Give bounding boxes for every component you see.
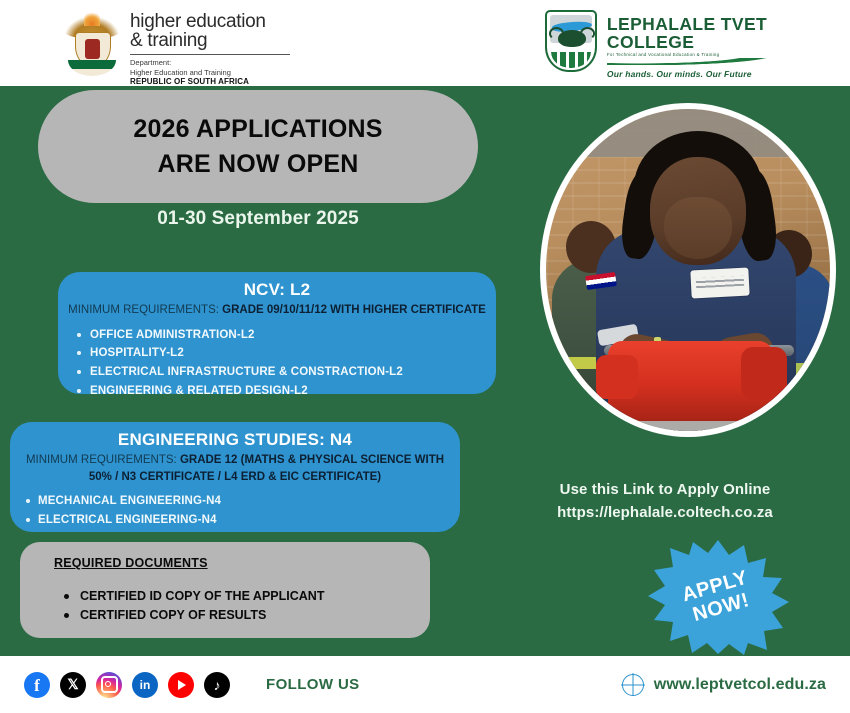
poster-footer: 𝕏 in ♪ FOLLOW US www.leptvetcol.edu.za [0,656,850,713]
social-links: 𝕏 in ♪ [24,672,230,698]
requirements-label: MINIMUM REQUIREMENTS: [26,454,177,466]
apply-now-badge[interactable]: APPLY NOW! [643,538,793,656]
college-crest-icon [545,10,597,72]
globe-icon [622,674,644,696]
dhet-dept-line3: REPUBLIC OF SOUTH AFRICA [130,77,290,86]
headline-line2: ARE NOW OPEN [157,147,358,182]
student-photo-image [546,109,830,431]
linkedin-glyph: in [140,678,151,692]
programme-title: NCV: L2 [68,280,486,300]
poster-header: higher education & training Department: … [0,0,850,86]
programme-requirements: MINIMUM REQUIREMENTS: GRADE 09/10/11/12 … [68,302,486,319]
list-item: ENGINEERING & RELATED DESIGN-L2 [68,382,486,401]
programme-requirements: MINIMUM REQUIREMENTS: GRADE 12 (MATHS & … [20,452,450,485]
apply-link-label: Use this Link to Apply Online [500,478,830,501]
programme-card-ncv-l2: NCV: L2 MINIMUM REQUIREMENTS: GRADE 09/1… [58,272,496,394]
follow-us-label: FOLLOW US [266,676,360,693]
list-item: ELECTRICAL INFRASTRUCTURE & CONSTRACTION… [68,363,486,382]
required-documents-list: CERTIFIED ID COPY OF THE APPLICANT CERTI… [54,587,430,626]
student-photo [540,103,836,437]
programme-card-engineering-n4: ENGINEERING STUDIES: N4 MINIMUM REQUIREM… [10,422,460,532]
required-documents-title: REQUIRED DOCUMENTS [54,556,430,570]
list-item: HOSPITALITY-L2 [68,344,486,363]
application-date-range: 01-30 September 2025 [38,208,478,230]
apply-link-url[interactable]: https://lephalale.coltech.co.za [500,501,830,524]
apply-link-block: Use this Link to Apply Online https://le… [500,478,830,525]
requirements-label: MINIMUM REQUIREMENTS: [68,304,219,316]
dhet-line2: & training [130,31,290,50]
college-logo: LEPHALALE TVET COLLEGE For Technical and… [545,10,850,79]
college-name: LEPHALALE TVET COLLEGE [607,16,850,51]
programme-course-list: MECHANICAL ENGINEERING-N4 ELECTRICAL ENG… [20,492,450,529]
list-item: MECHANICAL ENGINEERING-N4 [20,492,450,511]
list-item: CERTIFIED ID COPY OF THE APPLICANT [54,587,430,606]
list-item: OFFICE ADMINISTRATION-L2 [68,326,486,345]
college-tagline: Our hands. Our minds. Our Future [607,69,850,79]
instagram-icon[interactable] [96,672,122,698]
x-glyph: 𝕏 [67,676,78,693]
programme-title: ENGINEERING STUDIES: N4 [20,430,450,450]
dhet-dept-line1: Department: [130,58,290,68]
facebook-icon[interactable] [24,672,50,698]
x-twitter-icon[interactable]: 𝕏 [60,672,86,698]
requirements-value: GRADE 09/10/11/12 WITH HIGHER CERTIFICAT… [222,304,486,316]
list-item: CERTIFIED COPY OF RESULTS [54,606,430,625]
tiktok-icon[interactable]: ♪ [204,672,230,698]
coat-of-arms-icon [62,8,122,76]
college-logo-text: LEPHALALE TVET COLLEGE For Technical and… [607,10,850,79]
application-poster: higher education & training Department: … [0,0,850,713]
programme-course-list: OFFICE ADMINISTRATION-L2 HOSPITALITY-L2 … [68,326,486,401]
college-subtitle: For Technical and Vocational Education &… [607,52,850,57]
website-link[interactable]: www.leptvetcol.edu.za [622,674,826,696]
required-documents-card: REQUIRED DOCUMENTS CERTIFIED ID COPY OF … [20,542,430,638]
dhet-dept-line2: Higher Education and Training [130,68,290,78]
tiktok-glyph: ♪ [214,677,221,693]
headline-line1: 2026 APPLICATIONS [133,112,382,147]
dhet-logo-text: higher education & training Department: … [130,8,290,86]
dhet-rule [130,54,290,55]
website-url[interactable]: www.leptvetcol.edu.za [654,676,826,694]
list-item: ELECTRICAL ENGINEERING-N4 [20,511,450,530]
dhet-line1: higher education [130,12,290,31]
youtube-icon[interactable] [168,672,194,698]
linkedin-icon[interactable]: in [132,672,158,698]
college-swoosh [607,58,767,65]
dhet-logo: higher education & training Department: … [62,8,290,86]
headline-pill: 2026 APPLICATIONS ARE NOW OPEN [38,90,478,203]
